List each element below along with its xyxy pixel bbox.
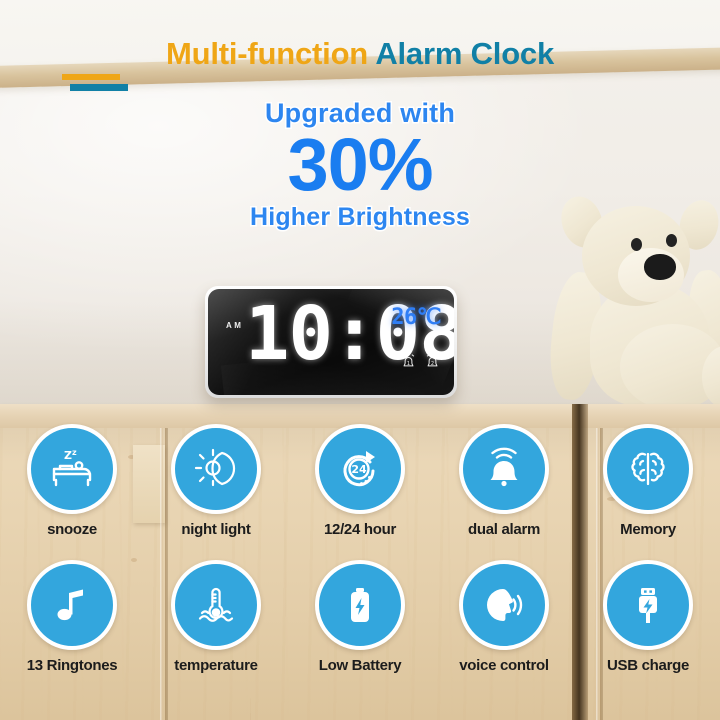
svg-text:Z: Z (64, 449, 72, 462)
voice-face-icon (479, 580, 529, 630)
feature-label: temperature (174, 657, 257, 674)
page-title: Multi-function Alarm Clock (0, 36, 720, 72)
feature-icon-circle: Z z (27, 424, 117, 514)
sun-moon-icon (191, 444, 241, 494)
feature-12-24-hour[interactable]: 24 12/24 hour (288, 424, 432, 538)
feature-icon-circle (27, 560, 117, 650)
thermometer-waves-icon (191, 580, 241, 630)
feature-dual-alarm[interactable]: dual alarm (432, 424, 576, 538)
bear-eye-left (631, 238, 642, 251)
clock-display-screen: AM 10:08 26℃ 1 2 (208, 289, 454, 395)
svg-text:z: z (72, 448, 77, 457)
feature-usb-charge[interactable]: USB charge (576, 560, 720, 674)
feature-icon-circle (459, 424, 549, 514)
svg-text:24: 24 (351, 463, 367, 476)
bed-zzz-icon: Z z (47, 444, 97, 494)
promo-block: Upgraded with 30% Higher Brightness (0, 98, 720, 232)
feature-ringtones[interactable]: 13 Ringtones (0, 560, 144, 674)
feature-icon-circle (459, 560, 549, 650)
feature-label: voice control (459, 657, 548, 674)
feature-voice-control[interactable]: voice control (432, 560, 576, 674)
feature-icon-circle (171, 424, 261, 514)
feature-temperature[interactable]: temperature (144, 560, 288, 674)
title-part-multifunction: Multi-function (166, 36, 375, 71)
title-part-alarm-clock: Alarm Clock (375, 36, 554, 71)
feature-icon-circle (603, 560, 693, 650)
alarm-indicators: 1 2 (401, 353, 440, 370)
feature-icon-circle (171, 560, 261, 650)
promo-percentage: 30% (0, 131, 720, 199)
bear-eye-right (666, 234, 677, 247)
brain-icon (623, 444, 673, 494)
feature-icon-circle (603, 424, 693, 514)
feature-label: USB charge (607, 657, 689, 674)
battery-bolt-icon (335, 580, 385, 630)
feature-low-battery[interactable]: Low Battery (288, 560, 432, 674)
promo-brightness-text: Higher Brightness (0, 203, 720, 232)
svg-text:2: 2 (431, 361, 434, 367)
feature-label: Low Battery (319, 657, 402, 674)
alarm-1-bell-icon: 1 (401, 353, 416, 370)
usb-plug-bolt-icon (623, 580, 673, 630)
feature-label: Memory (620, 521, 676, 538)
feature-label: 13 Ringtones (27, 657, 118, 674)
24-hour-arrow-icon: 24 (335, 444, 385, 494)
feature-snooze[interactable]: Z z snooze (0, 424, 144, 538)
am-pm-indicator: AM (226, 321, 243, 330)
bear-nose (644, 254, 676, 280)
temperature-display: 26℃ (391, 305, 441, 330)
alarm-2-bell-icon: 2 (425, 353, 440, 370)
feature-icon-circle: 24 (315, 424, 405, 514)
feature-icon-circle (315, 560, 405, 650)
feature-night-light[interactable]: night light (144, 424, 288, 538)
svg-text:1: 1 (407, 361, 410, 367)
feature-label: night light (181, 521, 250, 538)
product-marketing-image: Multi-function Alarm Clock Upgraded with… (0, 0, 720, 720)
feature-memory[interactable]: Memory (576, 424, 720, 538)
ringing-bell-icon (479, 444, 529, 494)
feature-label: snooze (47, 521, 97, 538)
alarm-clock-device: AM 10:08 26℃ 1 2 (205, 286, 457, 398)
title-underline-orange (62, 74, 120, 80)
feature-label: dual alarm (468, 521, 540, 538)
music-note-icon (47, 580, 97, 630)
title-underline-teal (70, 84, 128, 91)
feature-grid: Z z snooze night light (0, 424, 720, 674)
feature-label: 12/24 hour (324, 521, 396, 538)
